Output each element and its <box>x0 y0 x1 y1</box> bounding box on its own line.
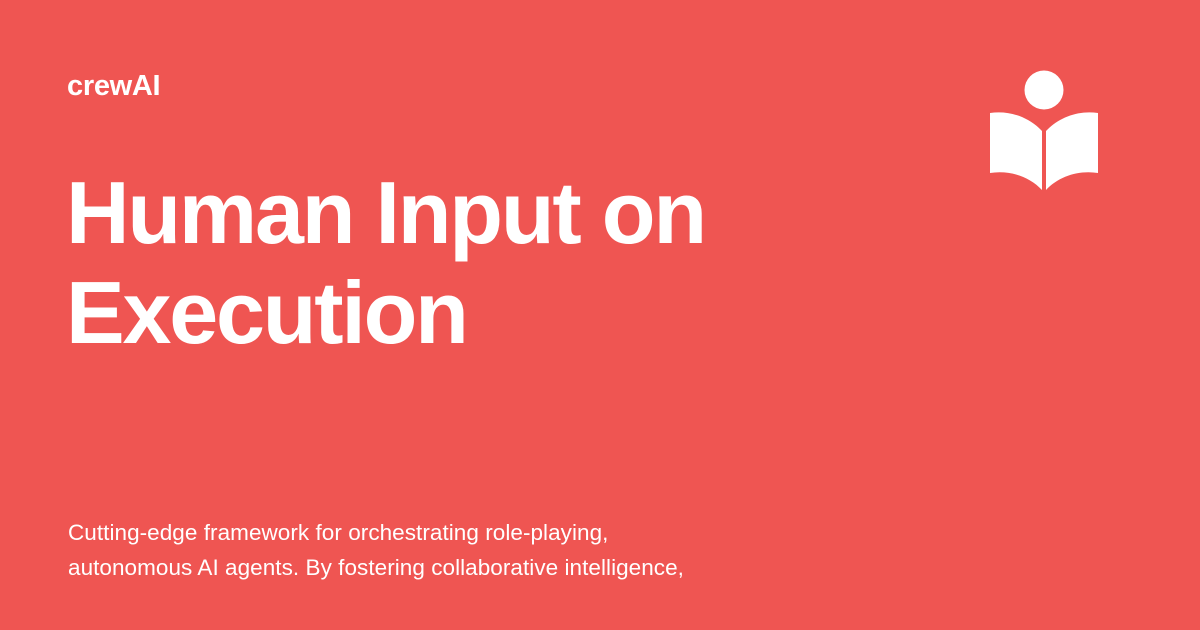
page-title: Human Input on Execution <box>66 163 826 363</box>
open-book-reader-icon <box>985 66 1105 196</box>
book-left-page <box>990 112 1042 190</box>
og-card: crewAI Human Input on Execution Cutting-… <box>0 0 1200 630</box>
page-description-line: autonomous AI agents. By fostering colla… <box>68 550 918 585</box>
page-description-line: Cutting-edge framework for orchestrating… <box>68 515 918 550</box>
page-description: Cutting-edge framework for orchestrating… <box>68 515 918 585</box>
brand-name: crewAI <box>67 72 160 101</box>
book-right-page <box>1046 112 1098 190</box>
site-logo <box>985 66 1105 196</box>
reader-head-circle <box>1025 71 1064 110</box>
